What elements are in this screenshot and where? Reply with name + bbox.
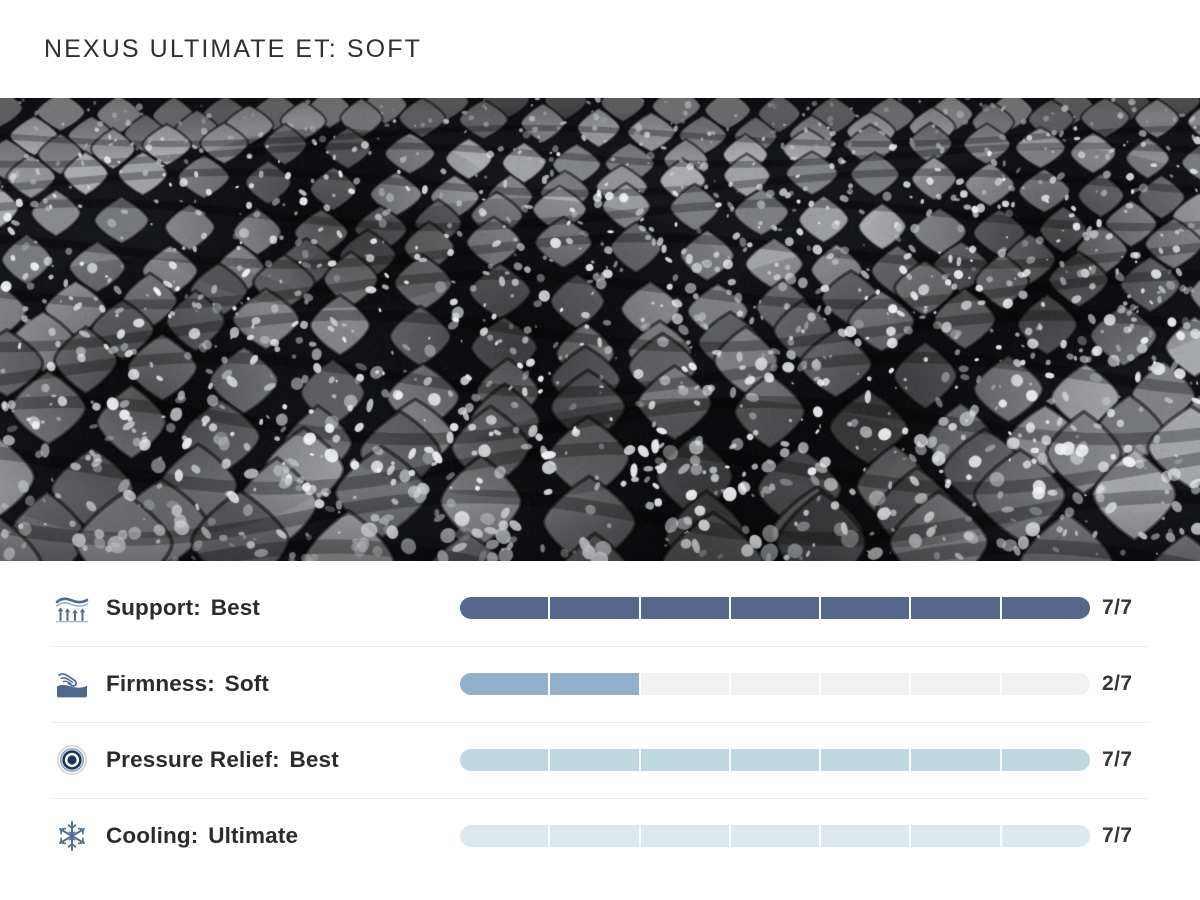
label-spacer	[201, 595, 211, 620]
bar-segment-filled	[460, 749, 548, 771]
mattress-texture-canvas	[0, 98, 1200, 561]
label-spacer	[280, 747, 290, 772]
page-title: NEXUS ULTIMATE ET: SOFT	[44, 35, 422, 64]
rating-row: Cooling: Ultimate7/7	[0, 798, 1200, 874]
rating-value: Ultimate	[208, 823, 298, 848]
bar-segment-filled	[641, 749, 729, 771]
rating-label: Support: Best	[106, 595, 406, 621]
bar-segment-filled	[821, 597, 909, 619]
support-arrows-icon	[52, 588, 92, 628]
rating-value: Soft	[225, 671, 269, 696]
bar-segment-filled	[460, 825, 548, 847]
bar-segment-filled	[1002, 825, 1090, 847]
ratings-list: Support: Best7/7 Firmness: Soft2/7 Press…	[0, 561, 1200, 874]
bar-segment-filled	[1002, 597, 1090, 619]
rating-row: Pressure Relief: Best7/7	[0, 722, 1200, 798]
rating-bar	[460, 825, 1090, 847]
bar-segment-empty	[731, 673, 819, 695]
concentric-target-icon	[52, 740, 92, 780]
rating-bar	[460, 749, 1090, 771]
rating-ratio: 2/7	[1102, 672, 1132, 696]
bar-segment-filled	[641, 597, 729, 619]
bar-segment-filled	[731, 825, 819, 847]
title-bar: NEXUS ULTIMATE ET: SOFT	[0, 0, 1200, 98]
bar-segment-filled	[731, 749, 819, 771]
product-spec-card: NEXUS ULTIMATE ET: SOFT Support: Best7/7	[0, 0, 1200, 900]
rating-value: Best	[211, 595, 260, 620]
bar-segment-filled	[1002, 749, 1090, 771]
rating-row: Firmness: Soft2/7	[0, 646, 1200, 722]
bar-segment-filled	[911, 597, 999, 619]
bar-segment-filled	[550, 749, 638, 771]
bar-segment-filled	[460, 597, 548, 619]
rating-label-name: Pressure Relief:	[106, 747, 280, 772]
bar-segment-filled	[911, 825, 999, 847]
rating-label-name: Support:	[106, 595, 201, 620]
rating-ratio: 7/7	[1102, 824, 1132, 848]
rating-label: Pressure Relief: Best	[106, 747, 406, 773]
bar-segment-filled	[550, 673, 638, 695]
bar-segment-filled	[821, 749, 909, 771]
bar-segment-empty	[911, 673, 999, 695]
rating-label: Firmness: Soft	[106, 671, 406, 697]
bar-segment-filled	[911, 749, 999, 771]
bar-segment-empty	[641, 673, 729, 695]
snowflake-icon	[52, 816, 92, 856]
bar-segment-filled	[550, 825, 638, 847]
label-spacer	[215, 671, 225, 696]
label-spacer	[198, 823, 208, 848]
bar-segment-filled	[550, 597, 638, 619]
rating-row: Support: Best7/7	[0, 570, 1200, 646]
hero-image	[0, 98, 1200, 561]
bar-segment-filled	[460, 673, 548, 695]
rating-ratio: 7/7	[1102, 748, 1132, 772]
rating-bar	[460, 597, 1090, 619]
hand-press-mattress-icon	[52, 664, 92, 704]
bar-segment-filled	[821, 825, 909, 847]
bar-segment-empty	[1002, 673, 1090, 695]
bar-segment-empty	[821, 673, 909, 695]
rating-value: Best	[290, 747, 339, 772]
rating-label-name: Cooling:	[106, 823, 198, 848]
rating-label: Cooling: Ultimate	[106, 823, 406, 849]
rating-ratio: 7/7	[1102, 596, 1132, 620]
bar-segment-filled	[731, 597, 819, 619]
rating-label-name: Firmness:	[106, 671, 215, 696]
rating-bar	[460, 673, 1090, 695]
bar-segment-filled	[641, 825, 729, 847]
